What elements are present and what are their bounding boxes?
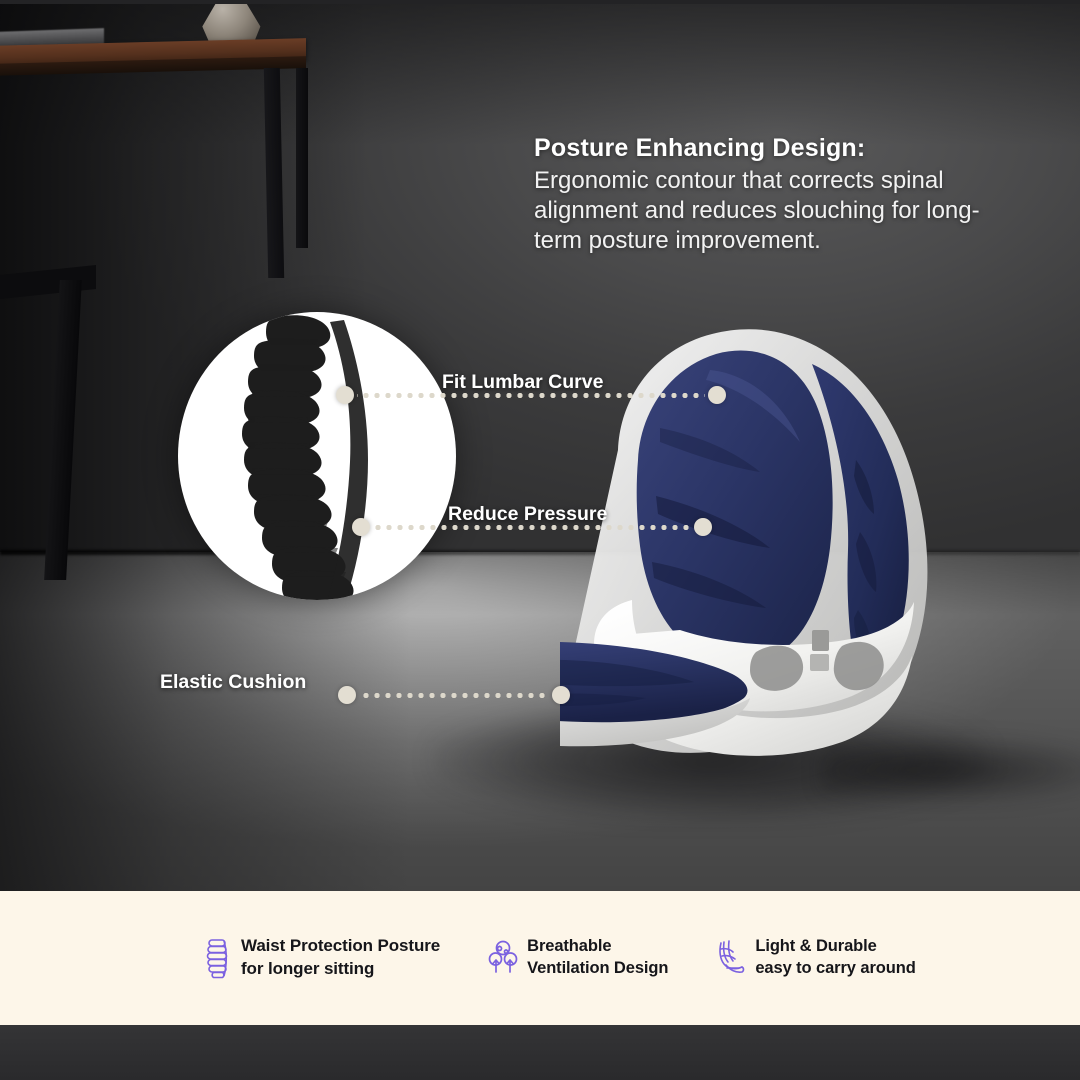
leader-line-dotted — [336, 392, 726, 398]
leader-dashes — [373, 525, 691, 530]
feature-breathable-ventilation: Breathable Ventilation Design — [488, 936, 668, 980]
leader-dot-end — [708, 386, 726, 404]
headline-body: Ergonomic contour that corrects spinal a… — [534, 166, 1004, 257]
leader-dot-start — [336, 386, 354, 404]
leader-dot-end — [694, 518, 712, 536]
leader-dot-end — [552, 686, 570, 704]
feature-line2: for longer sitting — [241, 959, 374, 978]
feature-line1: Breathable — [527, 937, 611, 955]
feature-text: Waist Protection Posture for longer sitt… — [241, 935, 440, 981]
callout-label: Reduce Pressure — [448, 503, 607, 526]
callout-label: Elastic Cushion — [160, 671, 306, 694]
leader-dashes — [359, 693, 549, 698]
headline-title: Posture Enhancing Design: — [534, 134, 1004, 164]
feature-banner: Waist Protection Posture for longer sitt… — [0, 891, 1080, 1025]
leader-line-dotted — [352, 524, 712, 530]
lightweight-icon — [716, 937, 746, 979]
airflow-icon — [488, 937, 518, 979]
table-leg-right-back — [296, 68, 308, 248]
feature-line2: easy to carry around — [755, 959, 915, 977]
callout-elastic-cushion: Elastic Cushion — [160, 680, 570, 710]
leader-dashes — [357, 393, 705, 398]
bottom-dark-strip — [0, 1025, 1080, 1080]
leader-dot-start — [338, 686, 356, 704]
feature-text: Breathable Ventilation Design — [527, 936, 668, 980]
top-dark-strip — [0, 0, 1080, 4]
feature-light-durable: Light & Durable easy to carry around — [716, 936, 915, 980]
callout-fit-lumbar-curve: Fit Lumbar Curve — [336, 380, 726, 410]
feature-line1: Light & Durable — [755, 937, 876, 955]
callout-reduce-pressure: Reduce Pressure — [352, 512, 712, 542]
feature-text: Light & Durable easy to carry around — [755, 936, 915, 980]
feature-waist-protection: Waist Protection Posture for longer sitt… — [202, 935, 440, 981]
headline-block: Posture Enhancing Design: Ergonomic cont… — [534, 134, 1004, 256]
feature-line2: Ventilation Design — [527, 959, 668, 977]
leader-dot-start — [352, 518, 370, 536]
infographic-canvas: Fit Lumbar Curve Reduce Pressure Elastic… — [0, 0, 1080, 1080]
callout-label: Fit Lumbar Curve — [442, 371, 603, 394]
leader-line-dotted — [338, 692, 570, 698]
spine-icon — [202, 937, 232, 979]
spine-icon — [178, 312, 456, 600]
spine-illustration-circle — [178, 312, 456, 600]
feature-line1: Waist Protection Posture — [241, 936, 440, 955]
